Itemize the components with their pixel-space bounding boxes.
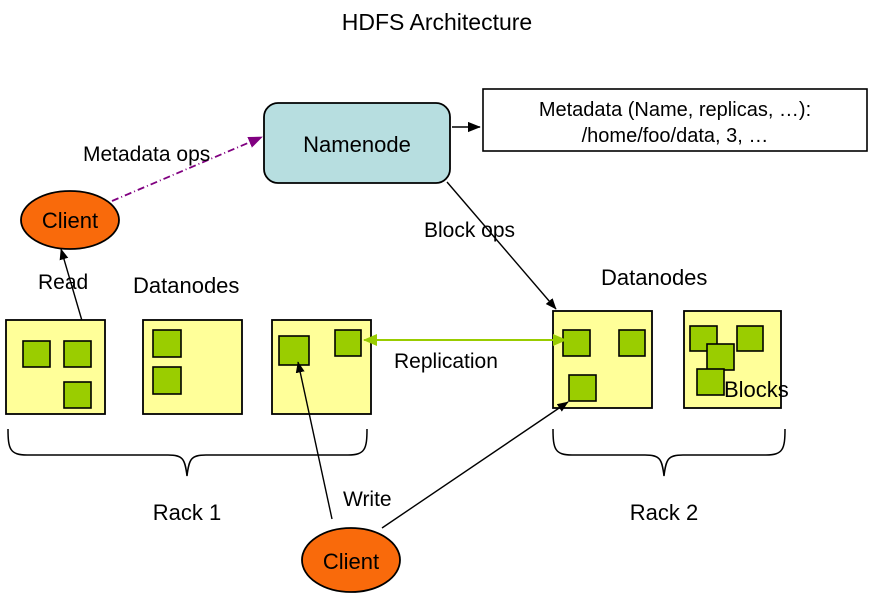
datanode-1-block-3 [64, 382, 91, 408]
block-ops-label: Block ops [424, 219, 515, 242]
metadata-box-line1: Metadata (Name, replicas, …): [539, 99, 811, 121]
rack-1-label: Rack 1 [153, 500, 221, 525]
datanode-4-rect [553, 311, 652, 408]
datanodes-right-label: Datanodes [601, 265, 707, 290]
datanode-4-block-1 [563, 330, 590, 356]
datanode-3[interactable] [272, 320, 371, 414]
datanode-5[interactable]: Blocks [684, 311, 789, 408]
namenode[interactable]: Namenode [264, 103, 450, 183]
metadata-box: Metadata (Name, replicas, …): /home/foo/… [483, 89, 867, 151]
datanode-3-block-1 [279, 336, 309, 365]
rack-2-label: Rack 2 [630, 500, 698, 525]
datanode-1-block-1 [23, 341, 50, 367]
datanode-4-block-2 [619, 330, 645, 356]
client-top-label: Client [42, 208, 98, 233]
blocks-label: Blocks [724, 377, 789, 402]
datanode-1[interactable] [6, 320, 105, 414]
page-title: HDFS Architecture [342, 9, 532, 35]
datanodes-left-label: Datanodes [133, 273, 239, 298]
client-top[interactable]: Client [21, 191, 119, 249]
metadata-box-line2: /home/foo/data, 3, … [582, 125, 769, 147]
hdfs-architecture-diagram: HDFS Architecture Metadata (Name, replic… [0, 0, 874, 604]
datanode-4[interactable] [553, 311, 652, 408]
diagram-canvas: HDFS Architecture Metadata (Name, replic… [0, 0, 874, 604]
replication-label: Replication [394, 350, 498, 373]
datanode-2-block-2 [153, 367, 181, 394]
client-to-rack2-arrow [382, 402, 568, 528]
datanode-5-block-2 [737, 326, 763, 351]
client-bottom-label: Client [323, 549, 379, 574]
write-label: Write [343, 488, 392, 511]
datanode-5-block-3 [707, 344, 734, 370]
datanode-2[interactable] [143, 320, 242, 414]
datanode-2-block-1 [153, 330, 181, 357]
datanode-4-block-3 [569, 375, 596, 401]
datanode-3-block-2 [335, 330, 361, 356]
block-ops-arrow [447, 182, 556, 309]
metadata-ops-label: Metadata ops [83, 143, 210, 166]
read-label: Read [38, 271, 88, 294]
rack-2-brace [553, 429, 785, 476]
client-bottom[interactable]: Client [302, 528, 400, 592]
datanode-1-block-2 [64, 341, 91, 367]
namenode-label: Namenode [303, 132, 411, 157]
datanode-5-block-4 [697, 369, 724, 395]
rack-1-brace [8, 429, 367, 476]
